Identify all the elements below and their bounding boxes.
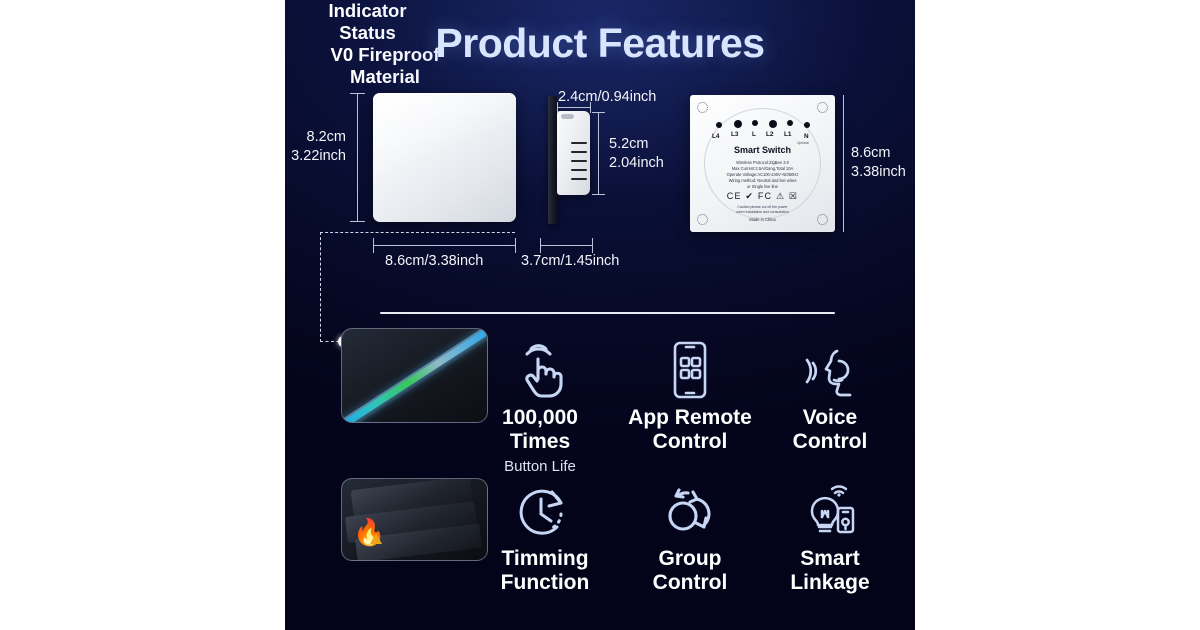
leader-line-top — [320, 232, 515, 233]
switch-side-module — [557, 111, 590, 195]
feature-button-life: 100,000 Times Button Life — [480, 337, 600, 476]
side-width-tick-right — [592, 238, 593, 253]
v0-fireproof-photo: 🔥 — [341, 478, 488, 561]
side-depth-dim-line — [557, 107, 591, 108]
front-width-label: 8.6cm/3.38inch — [385, 252, 483, 271]
side-vent — [571, 178, 587, 180]
side-height-tick-bottom — [592, 194, 605, 195]
feature-title-line-1: Smart — [765, 547, 895, 571]
feature-smart-linkage: Smart Linkage — [765, 478, 895, 595]
hand-tap-icon — [480, 337, 600, 399]
feature-app-remote-control: App Remote Control — [615, 337, 765, 454]
front-width-dim-line — [373, 245, 516, 246]
back-spec-line: Wiring method: Neutral and live wires — [690, 178, 835, 183]
clock-arrow-icon — [480, 478, 610, 540]
terminal-label-l4: L4 — [712, 133, 719, 140]
dark-panel: Product Features 8.2cm 3.22inch 8.6cm/3.… — [285, 0, 915, 630]
bulb-wifi-phone-icon — [765, 478, 895, 540]
side-height-label: 5.2cm 2.04inch — [609, 135, 664, 173]
terminal-dot — [769, 120, 777, 128]
feature-title-line-1: App Remote — [615, 406, 765, 430]
front-width-tick-right — [515, 238, 516, 253]
back-height-dim-line — [843, 95, 844, 232]
front-height-tick-bottom — [350, 221, 365, 222]
side-height-tick-top — [592, 112, 605, 113]
switch-back-plate: L4 L3 L L2 L1 N Optional Smart Switch Wi… — [690, 95, 835, 232]
feature-title-line-2: Function — [480, 571, 610, 595]
section-divider — [380, 312, 835, 314]
terminal-dot — [787, 120, 793, 126]
feature-group-control: Group Control — [615, 478, 765, 595]
side-height-inch: 2.04inch — [609, 154, 664, 173]
front-height-tick-top — [350, 93, 365, 94]
terminal-label-l2: L2 — [766, 131, 773, 138]
led-indicator-strip — [341, 328, 488, 423]
back-product-name: Smart Switch — [690, 145, 835, 155]
side-vent — [571, 169, 587, 171]
back-spec-line: Wireless Protocol:ZigBee 3.0 — [690, 160, 835, 165]
certification-marks: CE ✔ FC ⚠ ☒ — [690, 191, 835, 202]
back-height-cm: 8.6cm — [851, 144, 906, 163]
front-height-dim-line — [357, 93, 358, 222]
leader-line-vertical — [320, 232, 321, 342]
back-spec-line: Operate Voltage:AC100-240V~50/60Hz — [690, 172, 835, 177]
terminal-dot — [804, 122, 810, 128]
side-vent — [571, 151, 587, 153]
terminal-dot — [716, 122, 722, 128]
feature-title-line-2: Control — [615, 571, 765, 595]
warning-triangle-icon — [370, 533, 382, 544]
side-depth-label: 2.4cm/0.94inch — [558, 88, 656, 107]
side-width-dim-line — [540, 245, 593, 246]
terminal-label-n: N — [804, 133, 809, 140]
feature-voice-control: Voice Control — [765, 337, 895, 454]
screw-slot-icon — [817, 102, 828, 113]
terminal-label-l: L — [752, 131, 756, 138]
back-height-inch: 3.38inch — [851, 163, 906, 182]
poster-canvas: Product Features 8.2cm 3.22inch 8.6cm/3.… — [0, 0, 1200, 630]
feature-title-line-2: Control — [615, 430, 765, 454]
feature-title-line-1: 100,000 — [480, 406, 600, 430]
caption-line-1: Indicator — [285, 0, 450, 22]
feature-title-line-2: Linkage — [765, 571, 895, 595]
feature-title-line-1: Group — [615, 547, 765, 571]
front-height-cm: 8.2cm — [285, 128, 346, 147]
feature-title-line-1: Timming — [480, 547, 610, 571]
back-spec-line: or Single live line — [690, 184, 835, 189]
feature-timming-function: Timming Function — [480, 478, 610, 595]
side-width-label: 3.7cm/1.45inch — [521, 252, 619, 271]
side-vent — [571, 142, 587, 144]
indicator-status-photo — [341, 328, 488, 423]
feature-title-line-2: Times — [480, 430, 600, 454]
side-width-tick-left — [540, 238, 541, 253]
front-height-inch: 3.22inch — [285, 147, 346, 166]
side-vent — [571, 160, 587, 162]
side-module-nub — [561, 114, 574, 119]
back-caution-text: Caution:please cut off the power when in… — [690, 205, 835, 214]
back-spec-line: Max Current:2.5A/Gang,Total 10A — [690, 166, 835, 171]
back-origin: Made in China — [690, 217, 835, 222]
smartphone-app-icon — [615, 337, 765, 399]
switch-side-plate-edge — [548, 96, 557, 224]
front-height-label: 8.2cm 3.22inch — [285, 128, 346, 166]
terminal-label-l3: L3 — [731, 131, 738, 138]
terminal-label-l1: L1 — [784, 131, 791, 138]
terminal-dot — [752, 120, 758, 126]
switch-front-plate — [373, 93, 516, 222]
feature-title-line-2: Control — [765, 430, 895, 454]
circular-arrows-icon — [615, 478, 765, 540]
back-height-label: 8.6cm 3.38inch — [851, 144, 906, 182]
feature-title-line-1: Voice — [765, 406, 895, 430]
caption-line-2: Material — [285, 66, 485, 88]
front-width-tick-left — [373, 238, 374, 253]
terminal-dot — [734, 120, 742, 128]
page-title: Product Features — [285, 20, 915, 67]
feature-subtitle: Button Life — [480, 457, 600, 476]
voice-face-icon — [765, 337, 895, 399]
screw-slot-icon — [697, 102, 708, 113]
side-height-dim-line — [598, 112, 599, 195]
side-height-cm: 5.2cm — [609, 135, 664, 154]
